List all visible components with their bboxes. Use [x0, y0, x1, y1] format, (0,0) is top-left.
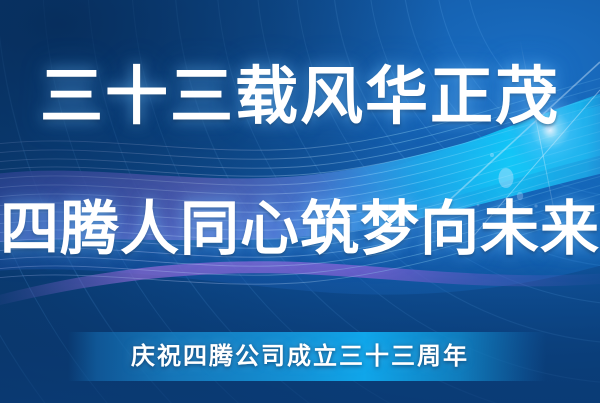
- headline-line-1: 三十三载风华正茂: [0, 62, 600, 132]
- anniversary-poster: 三十三载风华正茂 四腾人同心筑梦向未来 庆祝四腾公司成立三十三周年: [0, 0, 600, 403]
- headline-line-2: 四腾人同心筑梦向未来: [0, 196, 600, 262]
- subtitle-text: 庆祝四腾公司成立三十三周年: [0, 338, 600, 374]
